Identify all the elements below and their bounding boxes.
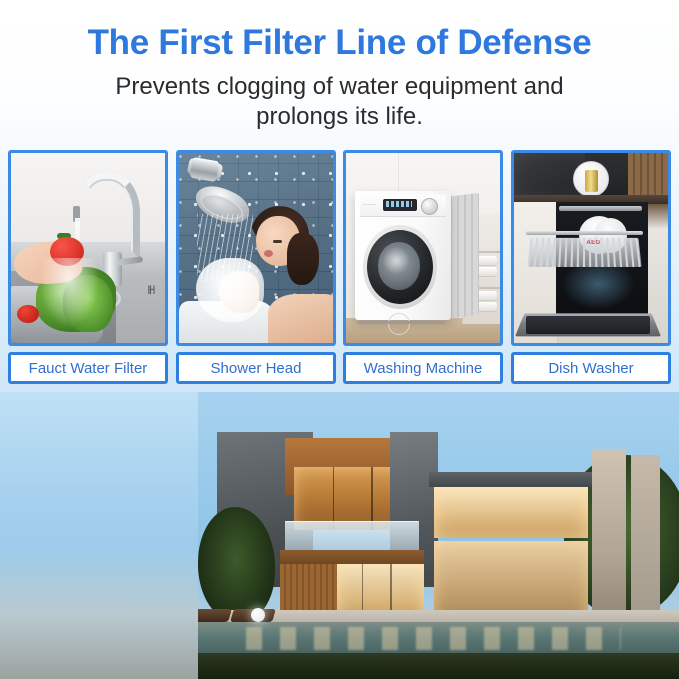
subtitle-line-1: Prevents clogging of water equipment and [0,72,679,102]
photo-dish-washer: AEG [511,150,671,346]
product-infographic: The First Filter Line of Defense Prevent… [0,0,679,679]
tomato-in-pot [17,305,39,323]
wing-roof [429,472,593,486]
page-subtitle: Prevents clogging of water equipment and… [0,72,679,132]
dishwasher-door-inner [526,316,649,333]
glass-balcony [285,521,420,551]
appliance-brand-mark: AEG [586,240,600,246]
soap-foam [196,258,264,323]
water-splash [39,258,101,330]
sink-marking: ||-| [148,284,155,294]
pool-reflection [246,627,621,650]
rack-bar [526,231,643,235]
modern-house-image [198,392,679,679]
child-eye [273,240,282,243]
right-pillar-2 [631,455,660,627]
caption-faucet-water-filter: Fauct Water Filter [8,352,168,384]
faucet-arc-highlight [74,172,140,259]
globe-lamp [251,608,265,622]
lifestyle-scene: HYDRONIX HPE10 10" x 2.5" 20 MICRON [0,392,679,679]
caption-shower-head: Shower Head [176,352,336,384]
washing-machine-scene-image: ——— [346,153,500,343]
lawn [198,653,679,679]
machine-brand-mark: ——— [363,201,376,206]
upper-rail [559,206,642,211]
child-hair-side [287,233,319,285]
program-knob [421,198,438,215]
caption-row: Fauct Water Filter Shower Head Washing M… [0,352,679,388]
dishwasher-scene-image: AEG [514,153,668,343]
inline-shower-filter [190,157,220,182]
subtitle-line-2: prolongs its life. [0,102,679,132]
right-pillar-1 [592,449,626,627]
caption-washing-machine: Washing Machine [343,352,503,384]
photo-washing-machine: ——— [343,150,503,346]
brass-vase [585,170,598,192]
display-segments [386,201,412,207]
photo-shower-head [176,150,336,346]
application-photo-row: ||-| [0,150,679,350]
lounge-chair-1 [198,609,232,622]
machine-display [383,199,417,211]
tree-left [198,507,275,622]
machine-base [358,321,444,324]
child-lips [264,250,273,257]
wing-glazing [434,487,588,539]
drum-highlight [383,246,409,275]
header: The First Filter Line of Defense Prevent… [0,0,679,148]
caption-dish-washer: Dish Washer [511,352,671,384]
dish-rack [528,237,642,267]
photo-faucet-water-filter: ||-| [8,150,168,346]
faucet-scene-image: ||-| [11,153,165,343]
shower-scene-image [179,153,333,343]
page-title: The First Filter Line of Defense [0,23,679,63]
child-shoulder [268,294,333,343]
